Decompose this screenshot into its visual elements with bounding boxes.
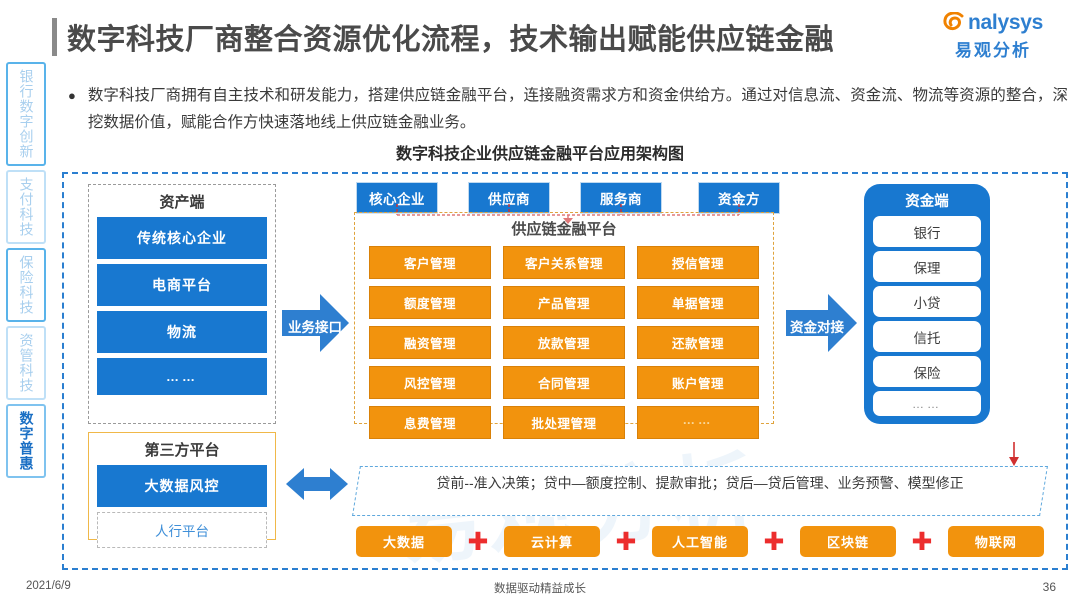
diagram-subtitle: 数字科技企业供应链金融平台应用架构图	[0, 140, 1080, 164]
fund-docking-label: 资金对接	[790, 316, 844, 336]
fund-side-panel: 资金端 银行 保理 小贷 信托 保险 ……	[864, 184, 990, 424]
module-customer-management[interactable]: 客户管理	[369, 246, 491, 279]
fund-item-more[interactable]: ……	[873, 391, 981, 416]
plus-icon-3: ✚	[763, 532, 784, 552]
sidebar-item-payment[interactable]: 支付科技	[6, 170, 46, 244]
asset-panel-title: 资产端	[97, 191, 267, 212]
technology-stack-row: 大数据 ✚ 云计算 ✚ 人工智能 ✚ 区块链 ✚ 物联网	[356, 526, 1044, 557]
logo-word: nalysys	[968, 12, 1043, 34]
loan-stage-text: 贷前--准入决策；贷中—额度控制、提款审批；贷后—贷后管理、业务预警、模型修正	[364, 472, 1036, 494]
asset-item-more[interactable]: ……	[97, 358, 267, 395]
plus-icon-4: ✚	[911, 532, 932, 552]
module-credit-granting[interactable]: 授信管理	[637, 246, 759, 279]
footer-page-number: 36	[1043, 580, 1056, 594]
fund-item-trust[interactable]: 信托	[873, 321, 981, 352]
tech-chip-blockchain[interactable]: 区块链	[800, 526, 896, 557]
platform-module-grid: 客户管理 客户关系管理 授信管理 额度管理 产品管理 单据管理 融资管理 放款管…	[355, 246, 773, 439]
slide-page: 数字科技厂商整合资源优化流程，技术输出赋能供应链金融 nalysys 易观分析 …	[0, 0, 1080, 608]
fund-item-insurance[interactable]: 保险	[873, 356, 981, 387]
module-repayment-management[interactable]: 还款管理	[637, 326, 759, 359]
third-party-bigdata-riskcontrol[interactable]: 大数据风控	[97, 465, 267, 507]
analysys-swoosh-icon	[943, 12, 967, 34]
supply-chain-finance-platform: 供应链金融平台 客户管理 客户关系管理 授信管理 额度管理 产品管理 单据管理 …	[354, 212, 774, 424]
third-party-pboc-platform[interactable]: 人行平台	[97, 512, 267, 548]
page-title: 数字科技厂商整合资源优化流程，技术输出赋能供应链金融	[67, 16, 834, 58]
logo-wordmark-row: nalysys	[928, 12, 1058, 34]
module-crm[interactable]: 客户关系管理	[503, 246, 625, 279]
asset-item-ecommerce[interactable]: 电商平台	[97, 264, 267, 306]
page-title-bar: 数字科技厂商整合资源优化流程，技术输出赋能供应链金融	[52, 16, 834, 58]
business-interface-label: 业务接口	[288, 316, 342, 336]
asset-side-panel: 资产端 传统核心企业 电商平台 物流 ……	[88, 184, 276, 424]
module-product-management[interactable]: 产品管理	[503, 286, 625, 319]
sidebar-item-inclusive-finance[interactable]: 数字普惠	[6, 404, 46, 478]
module-fee-management[interactable]: 息费管理	[369, 406, 491, 439]
tech-chip-iot[interactable]: 物联网	[948, 526, 1044, 557]
third-party-panel: 第三方平台 大数据风控 人行平台	[88, 432, 276, 540]
module-loan-disbursement[interactable]: 放款管理	[503, 326, 625, 359]
module-risk-control[interactable]: 风控管理	[369, 366, 491, 399]
fund-item-microloan[interactable]: 小贷	[873, 286, 981, 317]
plus-icon-2: ✚	[616, 532, 637, 552]
logo-chinese-name: 易观分析	[928, 36, 1058, 61]
asset-item-logistics[interactable]: 物流	[97, 311, 267, 353]
fund-panel-title: 资金端	[873, 190, 981, 211]
fund-item-bank[interactable]: 银行	[873, 216, 981, 247]
tech-chip-cloud[interactable]: 云计算	[504, 526, 600, 557]
module-document-management[interactable]: 单据管理	[637, 286, 759, 319]
module-batch-processing[interactable]: 批处理管理	[503, 406, 625, 439]
plus-icon-1: ✚	[468, 532, 489, 552]
footer-slogan: 数据驱动精益成长	[0, 580, 1080, 596]
module-more[interactable]: ……	[637, 406, 759, 439]
asset-item-core-enterprise[interactable]: 传统核心企业	[97, 217, 267, 259]
sidebar: 银行数字创新 支付科技 保险科技 资管科技 数字普惠	[6, 62, 46, 482]
slide-footer: 2021/6/9 数据驱动精益成长 36	[0, 580, 1080, 600]
sidebar-item-insurance[interactable]: 保险科技	[6, 248, 46, 322]
tech-chip-ai[interactable]: 人工智能	[652, 526, 748, 557]
brand-logo: nalysys 易观分析	[928, 12, 1058, 61]
module-account-management[interactable]: 账户管理	[637, 366, 759, 399]
module-quota-management[interactable]: 额度管理	[369, 286, 491, 319]
fund-item-factoring[interactable]: 保理	[873, 251, 981, 282]
lead-text: 数字科技厂商拥有自主技术和研发能力，搭建供应链金融平台，连接融资需求方和资金供给…	[88, 82, 1068, 136]
tech-chip-bigdata[interactable]: 大数据	[356, 526, 452, 557]
third-party-panel-title: 第三方平台	[97, 439, 267, 460]
architecture-diagram: 易观分析 资产端 传统核心企业 电商平台 物流 …… 第三方平台 大数据风控 人…	[62, 172, 1068, 570]
sidebar-item-asset-management[interactable]: 资管科技	[6, 326, 46, 400]
title-accent-bar	[52, 18, 57, 56]
module-contract-management[interactable]: 合同管理	[503, 366, 625, 399]
lead-paragraph: ● 数字科技厂商拥有自主技术和研发能力，搭建供应链金融平台，连接融资需求方和资金…	[68, 82, 1068, 136]
bullet-icon: ●	[68, 82, 76, 136]
platform-title: 供应链金融平台	[355, 218, 773, 239]
stage-band-down-arrow-icon	[1004, 442, 1024, 468]
bidirectional-arrow-icon	[286, 464, 348, 504]
module-financing-management[interactable]: 融资管理	[369, 326, 491, 359]
